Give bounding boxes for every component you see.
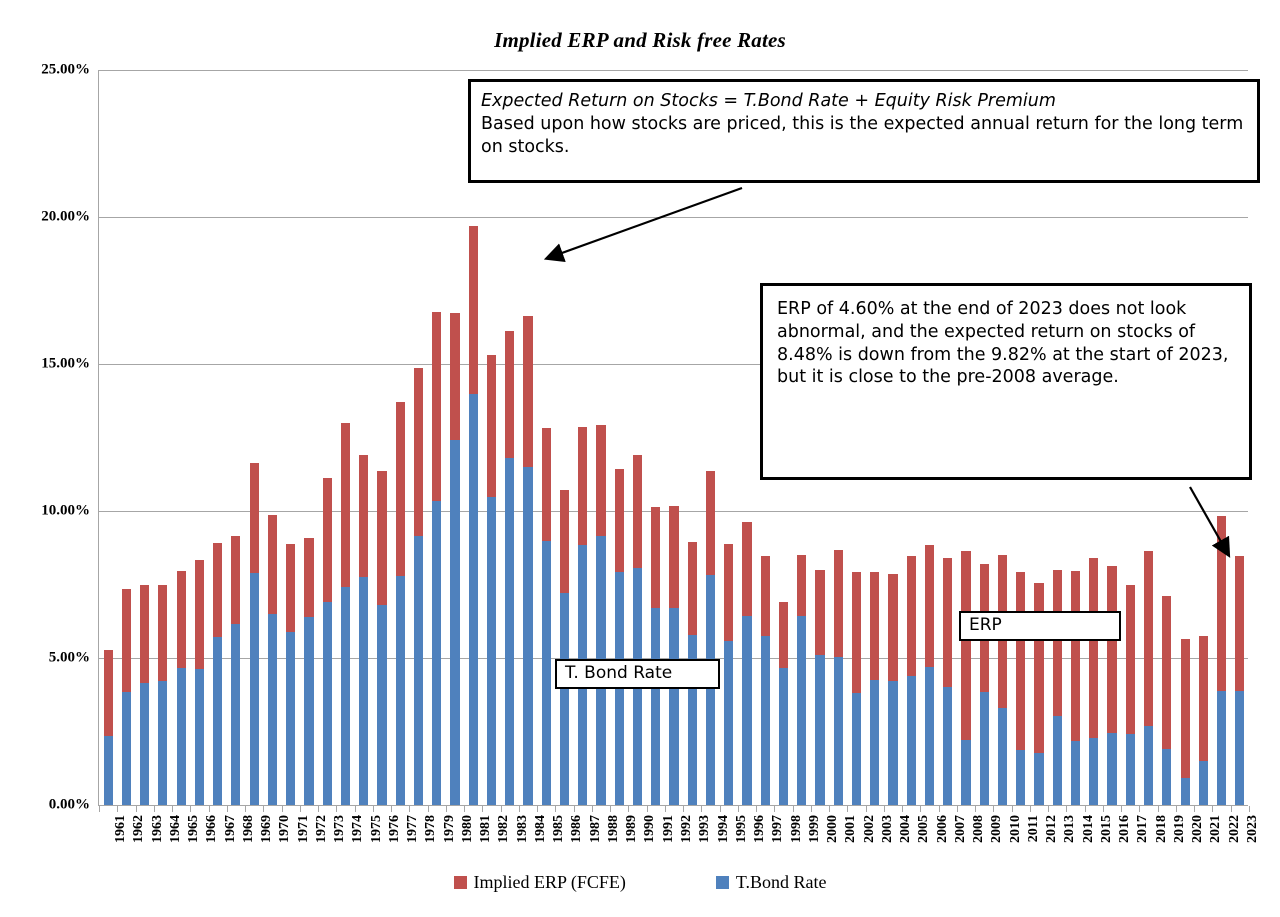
bar-group bbox=[980, 564, 989, 805]
bar-segment-tbond bbox=[414, 536, 423, 805]
bar-segment-erp bbox=[505, 331, 514, 458]
x-axis-tick-label: 2021 bbox=[1208, 815, 1224, 843]
bar-group bbox=[1089, 558, 1098, 805]
x-axis-tick bbox=[957, 806, 958, 812]
callout-erp-2023: ERP of 4.60% at the end of 2023 does not… bbox=[760, 283, 1252, 480]
x-axis-tick bbox=[920, 806, 921, 812]
bar-group bbox=[104, 650, 113, 805]
x-axis-tick bbox=[975, 806, 976, 812]
x-axis-tick bbox=[939, 806, 940, 812]
bar-group bbox=[1144, 551, 1153, 805]
x-axis-tick bbox=[738, 806, 739, 812]
bar-group bbox=[633, 455, 642, 805]
x-axis-tick-label: 1988 bbox=[606, 815, 622, 843]
x-axis-tick-label: 1967 bbox=[223, 815, 239, 843]
bar-segment-erp bbox=[396, 402, 405, 576]
bar-group bbox=[432, 312, 441, 805]
bar-segment-tbond bbox=[177, 668, 186, 805]
bar-segment-erp bbox=[122, 589, 131, 692]
bar-group bbox=[560, 490, 569, 805]
bar-group bbox=[213, 543, 222, 805]
x-axis-tick bbox=[1212, 806, 1213, 812]
bar-segment-tbond bbox=[213, 637, 222, 805]
x-axis-tick bbox=[501, 806, 502, 812]
bar-segment-erp bbox=[1034, 583, 1043, 753]
x-axis-tick-label: 1974 bbox=[350, 815, 366, 843]
bar-segment-tbond bbox=[304, 617, 313, 805]
bar-group bbox=[304, 538, 313, 805]
x-axis-tick bbox=[774, 806, 775, 812]
bar-segment-tbond bbox=[870, 680, 879, 805]
bar-segment-erp bbox=[1199, 636, 1208, 761]
x-axis-tick bbox=[701, 806, 702, 812]
x-axis-tick bbox=[355, 806, 356, 812]
bar-segment-tbond bbox=[1181, 778, 1190, 805]
x-axis-tick-label: 2019 bbox=[1172, 815, 1188, 843]
bar-group bbox=[578, 427, 587, 805]
x-axis-tick-label: 1996 bbox=[752, 815, 768, 843]
bar-group bbox=[469, 226, 478, 805]
x-axis-tick bbox=[409, 806, 410, 812]
x-axis-tick-label: 1978 bbox=[423, 815, 439, 843]
bar-group bbox=[815, 570, 824, 805]
bar-group bbox=[1235, 556, 1244, 805]
x-axis-tick-label: 1979 bbox=[442, 815, 458, 843]
bar-group bbox=[341, 423, 350, 805]
bar-group bbox=[797, 555, 806, 805]
x-axis-tick-label: 1984 bbox=[533, 815, 549, 843]
bar-segment-tbond bbox=[140, 683, 149, 805]
bar-segment-erp bbox=[1162, 596, 1171, 749]
bar-segment-erp bbox=[1181, 639, 1190, 778]
bar-group bbox=[870, 572, 879, 805]
x-axis-tick-label: 1995 bbox=[734, 815, 750, 843]
bar-segment-erp bbox=[286, 544, 295, 632]
x-axis-tick-label: 1990 bbox=[642, 815, 658, 843]
bar-segment-erp bbox=[706, 471, 715, 575]
x-axis-tick-label: 2002 bbox=[862, 815, 878, 843]
bar-segment-erp bbox=[834, 550, 843, 656]
bar-segment-erp bbox=[742, 522, 751, 616]
x-axis-tick-label: 1970 bbox=[277, 815, 293, 843]
x-axis-tick bbox=[811, 806, 812, 812]
bar-segment-tbond bbox=[669, 608, 678, 805]
x-axis-tick bbox=[190, 806, 191, 812]
x-axis-tick-label: 1998 bbox=[789, 815, 805, 843]
bar-segment-erp bbox=[888, 574, 897, 681]
x-axis-tick bbox=[245, 806, 246, 812]
bar-group bbox=[1199, 636, 1208, 805]
bar-segment-tbond bbox=[542, 541, 551, 805]
bar-segment-tbond bbox=[1199, 761, 1208, 805]
bar-group bbox=[286, 544, 295, 805]
x-axis-tick bbox=[793, 806, 794, 812]
x-axis-tick bbox=[884, 806, 885, 812]
x-axis-tick bbox=[1158, 806, 1159, 812]
bar-segment-tbond bbox=[359, 577, 368, 805]
x-axis-tick bbox=[300, 806, 301, 812]
x-axis-tick bbox=[136, 806, 137, 812]
bar-group bbox=[523, 316, 532, 805]
bar-segment-erp bbox=[1107, 566, 1116, 733]
bar-group bbox=[1107, 566, 1116, 805]
y-axis-tick-label: 5.00% bbox=[4, 650, 90, 667]
x-axis-tick-label: 1965 bbox=[186, 815, 202, 843]
bar-segment-erp bbox=[907, 556, 916, 676]
x-axis-tick-label: 2023 bbox=[1245, 815, 1261, 843]
bar-segment-tbond bbox=[797, 616, 806, 805]
bar-segment-erp bbox=[304, 538, 313, 616]
x-axis-tick bbox=[1085, 806, 1086, 812]
x-axis-tick bbox=[756, 806, 757, 812]
bar-segment-erp bbox=[359, 455, 368, 576]
bar-segment-erp bbox=[1071, 571, 1080, 741]
x-axis-tick bbox=[720, 806, 721, 812]
x-axis-tick-label: 2009 bbox=[989, 815, 1005, 843]
x-axis-tick-label: 1991 bbox=[661, 815, 677, 843]
bar-group bbox=[943, 558, 952, 805]
x-axis-tick bbox=[154, 806, 155, 812]
bar-segment-erp bbox=[323, 478, 332, 602]
bar-segment-erp bbox=[1126, 585, 1135, 734]
bar-group bbox=[1016, 572, 1025, 805]
bar-group bbox=[651, 507, 660, 805]
legend: Implied ERP (FCFE)T.Bond Rate bbox=[0, 872, 1280, 893]
x-axis-tick bbox=[282, 806, 283, 812]
legend-swatch-icon bbox=[716, 876, 729, 889]
bar-segment-tbond bbox=[104, 736, 113, 805]
bar-segment-erp bbox=[925, 545, 934, 667]
x-axis-tick bbox=[446, 806, 447, 812]
bar-segment-tbond bbox=[961, 740, 970, 805]
x-axis-tick bbox=[1012, 806, 1013, 812]
bar-segment-tbond bbox=[742, 616, 751, 805]
bar-segment-tbond bbox=[377, 605, 386, 805]
bar-segment-erp bbox=[633, 455, 642, 568]
x-axis-tick bbox=[318, 806, 319, 812]
bar-segment-erp bbox=[414, 368, 423, 536]
x-axis-tick-label: 2017 bbox=[1135, 815, 1151, 843]
bar-group bbox=[140, 585, 149, 805]
bar-group bbox=[450, 313, 459, 805]
bar-segment-erp bbox=[523, 316, 532, 467]
x-axis-line bbox=[98, 805, 1248, 806]
x-axis-tick bbox=[519, 806, 520, 812]
callout-expected-return-line1: Expected Return on Stocks = T.Bond Rate … bbox=[481, 90, 1247, 113]
bar-segment-erp bbox=[140, 585, 149, 683]
bar-group bbox=[323, 478, 332, 805]
x-axis-tick-label: 1980 bbox=[460, 815, 476, 843]
x-axis-tick bbox=[482, 806, 483, 812]
bar-segment-tbond bbox=[651, 608, 660, 805]
x-axis-tick bbox=[610, 806, 611, 812]
bar-segment-tbond bbox=[396, 576, 405, 805]
x-axis-tick-label: 2000 bbox=[825, 815, 841, 843]
bar-segment-tbond bbox=[998, 708, 1007, 805]
x-axis-tick bbox=[847, 806, 848, 812]
bar-segment-erp bbox=[797, 555, 806, 615]
x-axis-tick-label: 2012 bbox=[1044, 815, 1060, 843]
x-axis-tick bbox=[537, 806, 538, 812]
bar-segment-erp bbox=[852, 572, 861, 693]
x-axis-tick bbox=[1231, 806, 1232, 812]
x-axis-tick-label: 2008 bbox=[971, 815, 987, 843]
bar-segment-erp bbox=[469, 226, 478, 394]
bar-group bbox=[706, 471, 715, 805]
bar-segment-erp bbox=[341, 423, 350, 587]
x-axis-tick-label: 1972 bbox=[314, 815, 330, 843]
x-axis-tick bbox=[993, 806, 994, 812]
bar-segment-tbond bbox=[852, 693, 861, 805]
bar-segment-erp bbox=[231, 536, 240, 624]
x-axis-tick-label: 1982 bbox=[496, 815, 512, 843]
bar-segment-tbond bbox=[469, 394, 478, 805]
x-axis-tick-label: 1976 bbox=[387, 815, 403, 843]
bar-segment-tbond bbox=[341, 587, 350, 805]
bar-group bbox=[925, 545, 934, 805]
x-axis-tick-label: 2005 bbox=[916, 815, 932, 843]
bar-segment-tbond bbox=[1217, 691, 1226, 805]
bar-group bbox=[177, 571, 186, 805]
x-axis-tick-label: 2007 bbox=[953, 815, 969, 843]
bar-segment-tbond bbox=[1053, 716, 1062, 805]
bar-segment-tbond bbox=[888, 681, 897, 805]
x-axis-tick bbox=[1103, 806, 1104, 812]
legend-swatch-icon bbox=[454, 876, 467, 889]
x-axis-tick-label: 2006 bbox=[935, 815, 951, 843]
bar-group bbox=[1126, 585, 1135, 805]
x-axis-tick bbox=[1176, 806, 1177, 812]
x-axis-tick bbox=[1048, 806, 1049, 812]
callout-expected-return: Expected Return on Stocks = T.Bond Rate … bbox=[468, 79, 1260, 183]
bar-group bbox=[158, 585, 167, 805]
bar-segment-erp bbox=[961, 551, 970, 740]
bar-segment-tbond bbox=[1107, 733, 1116, 805]
bar-segment-tbond bbox=[1235, 691, 1244, 805]
bar-segment-tbond bbox=[1071, 741, 1080, 805]
x-axis-tick-label: 1989 bbox=[624, 815, 640, 843]
bar-segment-erp bbox=[761, 556, 770, 636]
x-axis-tick-label: 1999 bbox=[807, 815, 823, 843]
bar-segment-tbond bbox=[1034, 753, 1043, 805]
x-axis-tick-label: 2004 bbox=[898, 815, 914, 843]
x-axis-tick bbox=[373, 806, 374, 812]
bar-segment-erp bbox=[487, 355, 496, 498]
bar-segment-erp bbox=[779, 602, 788, 668]
x-axis-tick bbox=[117, 806, 118, 812]
bar-group bbox=[359, 455, 368, 805]
bar-group bbox=[742, 522, 751, 805]
x-axis-tick-label: 2022 bbox=[1227, 815, 1243, 843]
bar-segment-erp bbox=[724, 544, 733, 641]
x-axis-tick-label: 1973 bbox=[332, 815, 348, 843]
x-axis-tick-label: 1968 bbox=[241, 815, 257, 843]
bar-group bbox=[998, 555, 1007, 805]
x-axis-tick bbox=[172, 806, 173, 812]
bar-segment-erp bbox=[177, 571, 186, 669]
bar-group bbox=[505, 331, 514, 805]
bar-segment-erp bbox=[1053, 570, 1062, 716]
bar-group bbox=[268, 515, 277, 805]
x-axis-tick-label: 1971 bbox=[296, 815, 312, 843]
bar-segment-erp bbox=[268, 515, 277, 614]
x-axis-tick-label: 2013 bbox=[1062, 815, 1078, 843]
bar-segment-tbond bbox=[560, 593, 569, 805]
bar-segment-tbond bbox=[122, 692, 131, 805]
y-axis-tick-label: 15.00% bbox=[4, 356, 90, 373]
bar-segment-tbond bbox=[925, 667, 934, 805]
y-axis-tick-label: 0.00% bbox=[4, 797, 90, 814]
bar-group bbox=[907, 556, 916, 805]
bar-segment-erp bbox=[560, 490, 569, 593]
bar-segment-tbond bbox=[706, 575, 715, 805]
series-label-erp: ERP bbox=[959, 611, 1121, 641]
bar-segment-tbond bbox=[450, 440, 459, 805]
bar-segment-erp bbox=[542, 428, 551, 541]
bar-segment-tbond bbox=[158, 681, 167, 805]
bar-segment-tbond bbox=[1089, 738, 1098, 805]
bar-group bbox=[1162, 596, 1171, 805]
y-axis-tick-label: 10.00% bbox=[4, 503, 90, 520]
bar-group bbox=[1071, 571, 1080, 805]
bar-segment-tbond bbox=[432, 501, 441, 805]
x-axis-tick-label: 1983 bbox=[515, 815, 531, 843]
bar-group bbox=[414, 368, 423, 805]
y-axis-tick-label: 20.00% bbox=[4, 209, 90, 226]
x-axis-tick-label: 2015 bbox=[1099, 815, 1115, 843]
bar-segment-tbond bbox=[523, 467, 532, 805]
bar-segment-tbond bbox=[1144, 726, 1153, 805]
bar-segment-tbond bbox=[250, 573, 259, 805]
legend-item[interactable]: T.Bond Rate bbox=[716, 872, 827, 893]
bar-segment-tbond bbox=[1016, 750, 1025, 805]
x-axis-tick-label: 2001 bbox=[843, 815, 859, 843]
x-axis-tick-label: 1994 bbox=[716, 815, 732, 843]
bar-segment-tbond bbox=[779, 668, 788, 805]
bar-segment-erp bbox=[1016, 572, 1025, 750]
x-axis-tick-label: 1981 bbox=[478, 815, 494, 843]
x-axis-tick bbox=[592, 806, 593, 812]
bar-group bbox=[961, 551, 970, 805]
bar-segment-erp bbox=[615, 469, 624, 572]
bar-group bbox=[487, 355, 496, 805]
callout-expected-return-line2: Based upon how stocks are priced, this i… bbox=[481, 113, 1247, 159]
bar-segment-tbond bbox=[834, 657, 843, 805]
bar-segment-erp bbox=[1235, 556, 1244, 691]
bar-segment-erp bbox=[815, 570, 824, 654]
x-axis-tick-label: 1975 bbox=[369, 815, 385, 843]
x-axis-tick bbox=[1194, 806, 1195, 812]
bar-segment-tbond bbox=[815, 655, 824, 805]
x-axis-tick-label: 2016 bbox=[1117, 815, 1133, 843]
bar-group bbox=[888, 574, 897, 805]
x-axis-tick bbox=[1139, 806, 1140, 812]
x-axis-tick-label: 2020 bbox=[1190, 815, 1206, 843]
x-axis-tick-label: 1969 bbox=[259, 815, 275, 843]
bar-segment-erp bbox=[943, 558, 952, 686]
x-axis-tick-label: 2010 bbox=[1008, 815, 1024, 843]
x-axis-tick bbox=[227, 806, 228, 812]
bar-group bbox=[615, 469, 624, 805]
bar-segment-tbond bbox=[323, 602, 332, 805]
bar-segment-tbond bbox=[286, 632, 295, 805]
x-axis-tick bbox=[628, 806, 629, 812]
legend-label: T.Bond Rate bbox=[736, 872, 827, 893]
page-title: Implied ERP and Risk free Rates bbox=[0, 28, 1280, 53]
x-axis-tick-label: 2003 bbox=[880, 815, 896, 843]
bar-segment-tbond bbox=[724, 641, 733, 805]
x-axis-tick bbox=[1030, 806, 1031, 812]
bar-group bbox=[852, 572, 861, 805]
x-axis-tick bbox=[336, 806, 337, 812]
x-axis-tick-label: 2018 bbox=[1154, 815, 1170, 843]
x-axis-tick-label: 1963 bbox=[150, 815, 166, 843]
bar-group bbox=[1181, 639, 1190, 805]
x-axis-tick bbox=[428, 806, 429, 812]
bar-segment-erp bbox=[432, 312, 441, 502]
bar-group bbox=[779, 602, 788, 805]
x-axis-tick-label: 2014 bbox=[1081, 815, 1097, 843]
x-axis-tick-label: 1992 bbox=[679, 815, 695, 843]
bar-segment-tbond bbox=[505, 458, 514, 805]
bar-group bbox=[396, 402, 405, 805]
x-axis-tick bbox=[99, 806, 100, 812]
x-axis-tick-label: 1985 bbox=[551, 815, 567, 843]
bar-segment-tbond bbox=[761, 636, 770, 805]
bar-segment-erp bbox=[669, 506, 678, 608]
bar-group bbox=[834, 550, 843, 805]
bar-segment-tbond bbox=[907, 676, 916, 805]
bar-segment-tbond bbox=[1162, 749, 1171, 805]
bar-group bbox=[377, 471, 386, 805]
x-axis-tick bbox=[866, 806, 867, 812]
bar-segment-erp bbox=[250, 463, 259, 573]
bar-segment-erp bbox=[377, 471, 386, 605]
bar-segment-tbond bbox=[195, 669, 204, 805]
bar-group bbox=[669, 506, 678, 805]
bar-segment-tbond bbox=[1126, 734, 1135, 805]
bar-segment-erp bbox=[158, 585, 167, 681]
x-axis-tick bbox=[665, 806, 666, 812]
bar-segment-tbond bbox=[980, 692, 989, 805]
y-axis-tick-label: 25.00% bbox=[4, 62, 90, 79]
bar-segment-tbond bbox=[943, 687, 952, 805]
x-axis-tick-label: 1993 bbox=[697, 815, 713, 843]
bar-segment-erp bbox=[195, 560, 204, 668]
x-axis-tick bbox=[574, 806, 575, 812]
x-axis-tick-label: 1987 bbox=[588, 815, 604, 843]
bar-segment-tbond bbox=[268, 614, 277, 805]
x-axis-tick-label: 1997 bbox=[770, 815, 786, 843]
x-axis-tick bbox=[209, 806, 210, 812]
bar-group bbox=[195, 560, 204, 805]
bar-group bbox=[761, 556, 770, 805]
bar-group bbox=[542, 428, 551, 805]
bar-segment-erp bbox=[688, 542, 697, 635]
legend-item[interactable]: Implied ERP (FCFE) bbox=[454, 872, 626, 893]
bar-segment-erp bbox=[213, 543, 222, 637]
x-axis-tick-label: 1977 bbox=[405, 815, 421, 843]
bar-group bbox=[122, 589, 131, 805]
bar-group bbox=[231, 536, 240, 805]
legend-label: Implied ERP (FCFE) bbox=[474, 872, 626, 893]
x-axis-tick-label: 1962 bbox=[131, 815, 147, 843]
bar-segment-erp bbox=[450, 313, 459, 439]
x-axis-tick bbox=[902, 806, 903, 812]
x-axis-tick bbox=[263, 806, 264, 812]
bar-segment-tbond bbox=[231, 624, 240, 805]
bar-segment-erp bbox=[578, 427, 587, 544]
